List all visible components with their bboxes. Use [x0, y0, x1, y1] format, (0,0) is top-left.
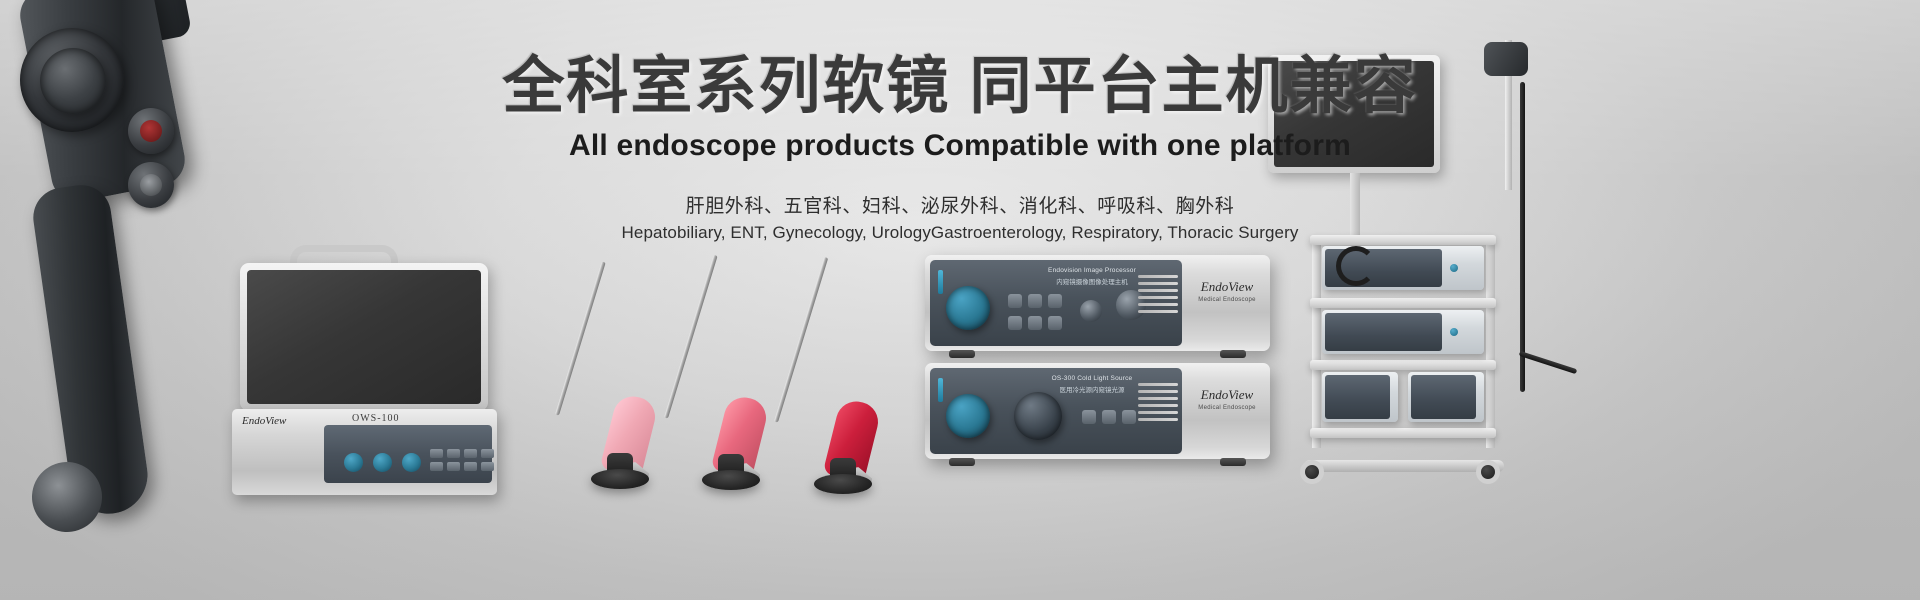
processor-main-dial[interactable] — [946, 286, 990, 330]
monitor-key[interactable] — [464, 449, 477, 458]
cart-shelf — [1310, 360, 1496, 370]
processor-button-row-1[interactable] — [1008, 294, 1062, 308]
processor-brand-sub: Medical Endoscope — [1190, 405, 1264, 411]
monitor-key[interactable] — [447, 462, 460, 471]
processor-accent-bar — [938, 378, 943, 402]
monitor-key[interactable] — [430, 449, 443, 458]
cart-shelf — [1310, 298, 1496, 308]
instrument-stand-base — [814, 474, 872, 494]
processor-brand: EndoView — [1190, 387, 1264, 403]
cart-caster-wheel — [1300, 460, 1324, 484]
monitor-brand-label: EndoView — [242, 415, 286, 427]
instrument-shaft — [774, 257, 828, 423]
processor-vent-grille — [1138, 275, 1178, 313]
processor-brand-sub: Medical Endoscope — [1190, 297, 1264, 303]
processor-button[interactable] — [1048, 294, 1062, 308]
monitor-key[interactable] — [464, 462, 477, 471]
light-source-button[interactable] — [1102, 410, 1116, 424]
processor-title-en: OS-300 Cold Light Source — [1022, 375, 1162, 382]
processor-small-dial[interactable] — [1080, 300, 1102, 322]
subheadline-english: All endoscope products Compatible with o… — [0, 129, 1920, 163]
instrument-shaft — [555, 261, 606, 415]
monitor-dial-3[interactable] — [402, 453, 421, 472]
processor-title-en: Endovision Image Processor — [1022, 267, 1162, 274]
processor-brand: EndoView — [1190, 279, 1264, 295]
cart-module-insufflator — [1322, 372, 1398, 422]
processor-brand-block: EndoView Medical Endoscope — [1190, 387, 1264, 411]
cart-caster-wheel — [1476, 460, 1500, 484]
processor-foot — [1220, 458, 1246, 466]
processor-foot — [949, 458, 975, 466]
processor-button[interactable] — [1008, 316, 1022, 330]
cart-rail-left — [1312, 240, 1321, 448]
cart-module-panel — [1411, 375, 1476, 419]
cart-module-recorder — [1408, 372, 1484, 422]
cart-module-indicator — [1450, 264, 1458, 272]
monitor-dial-2[interactable] — [373, 453, 392, 472]
monitor-dial-group[interactable] — [344, 453, 421, 472]
monitor-screen — [247, 270, 481, 404]
endoscope-cable-tip — [1519, 351, 1578, 374]
processor-stack: Endovision Image Processor 内窥镜摄像图像处理主机 — [925, 255, 1270, 470]
monitor-control-panel — [324, 425, 492, 483]
laparoscopic-instrument-crimson — [730, 250, 848, 495]
processor-foot — [1220, 350, 1246, 358]
monitor-unit-ows100: EndoView OWS-100 — [232, 245, 497, 495]
departments-english: Hepatobiliary, ENT, Gynecology, UrologyG… — [0, 223, 1920, 243]
processor-accent-bar — [938, 270, 943, 294]
processor-button[interactable] — [1028, 316, 1042, 330]
light-source-port[interactable] — [946, 394, 990, 438]
processor-button[interactable] — [1048, 316, 1062, 330]
monitor-key[interactable] — [430, 462, 443, 471]
cart-module-indicator — [1450, 328, 1458, 336]
light-source-unit: OS-300 Cold Light Source 医用冷光源内窥镜光源 Endo… — [925, 363, 1270, 459]
laparoscopic-instrument-salmon — [620, 248, 730, 490]
monitor-keypad[interactable] — [430, 449, 494, 471]
laparoscopic-instrument-pink — [505, 255, 615, 490]
cart-module-panel — [1325, 375, 1390, 419]
processor-foot — [949, 350, 975, 358]
monitor-frame — [240, 263, 488, 411]
image-processor-unit: Endovision Image Processor 内窥镜摄像图像处理主机 — [925, 255, 1270, 351]
cart-module-panel — [1325, 313, 1442, 351]
monitor-key[interactable] — [481, 462, 494, 471]
instrument-shaft — [664, 255, 718, 419]
light-source-brightness-dial[interactable] — [1014, 392, 1062, 440]
processor-brand-block: EndoView Medical Endoscope — [1190, 279, 1264, 303]
monitor-base-unit: EndoView OWS-100 — [232, 409, 497, 495]
light-source-button-row[interactable] — [1082, 410, 1136, 424]
product-banner: 全科室系列软镜 同平台主机兼容 All endoscope products C… — [0, 0, 1920, 600]
monitor-key[interactable] — [481, 449, 494, 458]
monitor-dial-1[interactable] — [344, 453, 363, 472]
monitor-key[interactable] — [447, 449, 460, 458]
cart-shelf — [1310, 428, 1496, 438]
light-source-button[interactable] — [1122, 410, 1136, 424]
processor-button[interactable] — [1028, 294, 1042, 308]
departments-chinese: 肝胆外科、五官科、妇科、泌尿外科、消化科、呼吸科、胸外科 — [0, 191, 1920, 218]
light-source-button[interactable] — [1082, 410, 1096, 424]
monitor-model-label: OWS-100 — [352, 413, 400, 424]
cart-rail-right — [1486, 240, 1495, 448]
cart-cable-coil — [1336, 246, 1376, 286]
processor-button-row-2[interactable] — [1008, 316, 1062, 330]
processor-vent-grille — [1138, 383, 1178, 421]
headline-chinese: 全科室系列软镜 同平台主机兼容 — [0, 52, 1920, 121]
cart-base-frame — [1304, 460, 1504, 472]
cart-module-light-source — [1322, 310, 1484, 354]
processor-button[interactable] — [1008, 294, 1022, 308]
banner-text-block: 全科室系列软镜 同平台主机兼容 All endoscope products C… — [0, 52, 1920, 243]
